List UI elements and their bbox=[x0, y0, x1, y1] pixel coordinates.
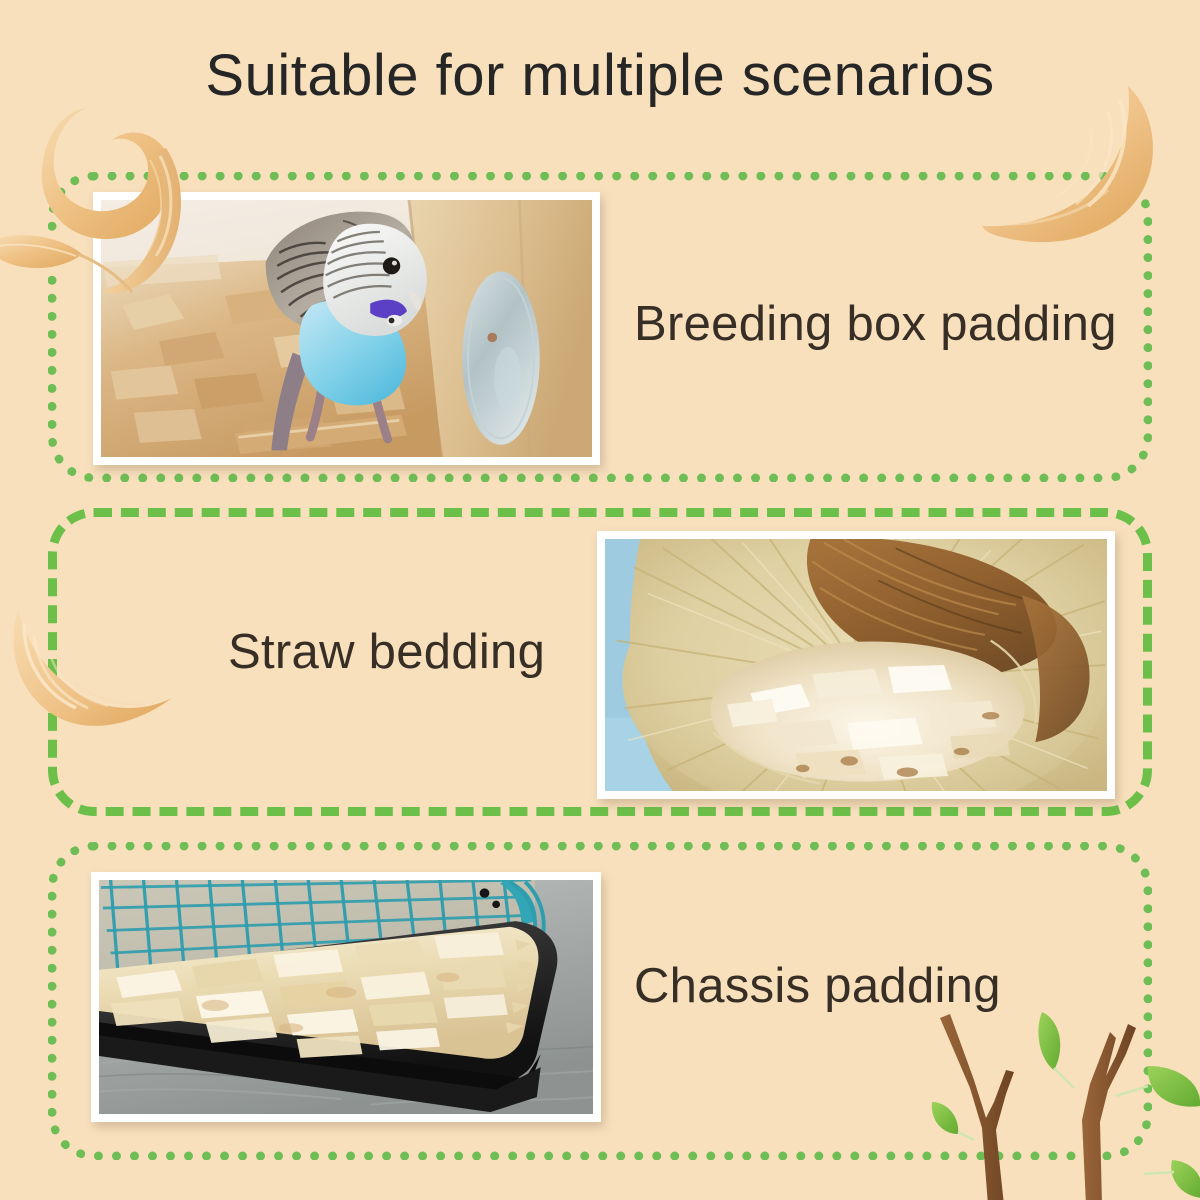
caption-straw-bedding: Straw bedding bbox=[228, 624, 545, 680]
photo-straw-bedding bbox=[597, 531, 1115, 799]
infographic-page: Suitable for multiple scenarios bbox=[0, 0, 1200, 1200]
caption-chassis-padding: Chassis padding bbox=[634, 958, 1001, 1014]
page-title: Suitable for multiple scenarios bbox=[0, 42, 1200, 109]
photo-chassis-padding bbox=[91, 872, 601, 1122]
photo-breeding-box bbox=[93, 192, 600, 465]
caption-breeding-box: Breeding box padding bbox=[634, 296, 1117, 352]
